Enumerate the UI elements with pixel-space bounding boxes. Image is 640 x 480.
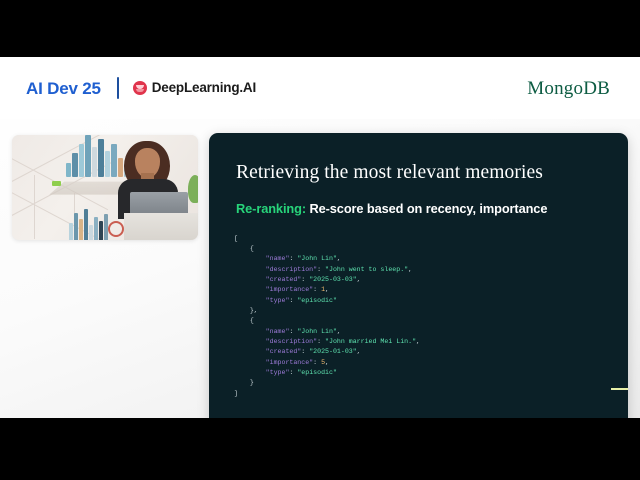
code-line: "created": "2025-01-03", <box>234 348 361 355</box>
code-token: "description" <box>266 266 317 273</box>
code-token: : <box>317 338 325 345</box>
code-token: "type" <box>266 369 290 376</box>
mongodb-logo: MongoDB <box>507 74 610 102</box>
code-token: : <box>313 359 321 366</box>
code-token: "importance" <box>266 286 313 293</box>
podium <box>124 213 198 240</box>
code-line: { <box>234 245 254 252</box>
code-token: "episodic" <box>297 297 337 304</box>
presentation-slide: AI Dev 25 DeepLearning.AI MongoDB <box>0 57 640 418</box>
letterbox-top <box>0 0 640 57</box>
code-token: : <box>317 266 325 273</box>
mongodb-logo-text: MongoDB <box>527 79 610 98</box>
speaker-video-thumbnail[interactable] <box>12 135 198 240</box>
score-annotation-row: 0.96 + 0.9 <box>611 383 628 395</box>
code-line: [ <box>234 235 238 242</box>
code-token: : <box>313 286 321 293</box>
code-token: "John went to sleep." <box>325 266 408 273</box>
code-token: , <box>357 276 361 283</box>
code-token: "2025-03-03" <box>309 276 356 283</box>
code-token: { <box>250 317 254 324</box>
code-token: "2025-01-03" <box>309 348 356 355</box>
json-code-block: [ { "name": "John Lin", "description": "… <box>234 234 420 400</box>
letterbox-bottom <box>0 418 640 480</box>
code-token: [ <box>234 235 238 242</box>
code-token: "John Lin" <box>297 328 337 335</box>
iso-grid-line <box>34 175 35 239</box>
aidev-event-logo: AI Dev 25 <box>26 80 101 97</box>
code-line: "type": "episodic" <box>234 369 337 376</box>
brand-row: AI Dev 25 DeepLearning.AI <box>26 75 256 101</box>
code-token: "name" <box>266 255 290 262</box>
subtitle-highlight: Re-ranking: <box>236 201 306 216</box>
code-line: ] <box>234 390 238 397</box>
code-line: { <box>234 317 254 324</box>
code-line: "type": "episodic" <box>234 297 337 304</box>
code-token: , <box>337 255 341 262</box>
code-token: , <box>416 338 420 345</box>
code-token: : <box>301 276 309 283</box>
code-token: , <box>325 359 329 366</box>
arrow-icon <box>611 388 628 390</box>
deeplearning-logo-text: DeepLearning.AI <box>152 81 256 95</box>
iso-small-city-cluster <box>67 207 115 240</box>
code-token: "type" <box>266 297 290 304</box>
code-line: }, <box>234 307 258 314</box>
laptop <box>130 192 188 214</box>
code-token: "name" <box>266 328 290 335</box>
code-token: , <box>325 286 329 293</box>
code-line: "description": "John went to sleep.", <box>234 266 412 273</box>
brand-divider <box>117 77 119 99</box>
slide-title: Retrieving the most relevant memories <box>236 162 543 184</box>
iso-plant <box>188 175 198 203</box>
code-line: "importance": 1, <box>234 286 329 293</box>
slide-header-band: AI Dev 25 DeepLearning.AI MongoDB <box>0 57 640 119</box>
slide-subtitle: Re-ranking: Re-score based on recency, i… <box>236 201 547 216</box>
code-token: } <box>250 379 254 386</box>
code-token: "John married Mei Lin." <box>325 338 416 345</box>
deeplearning-circle-icon <box>133 81 147 95</box>
content-panel: Retrieving the most relevant memories Re… <box>209 133 628 418</box>
shirt-logo <box>52 181 61 186</box>
code-token: "John Lin" <box>297 255 337 262</box>
code-line: "created": "2025-03-03", <box>234 276 361 283</box>
code-token: "created" <box>266 276 302 283</box>
mongodb-leaf-icon <box>599 146 608 161</box>
code-token: { <box>250 245 254 252</box>
code-line: } <box>234 379 254 386</box>
code-line: "name": "John Lin", <box>234 328 341 335</box>
iso-red-marker <box>108 221 124 237</box>
screenshot-stage: AI Dev 25 DeepLearning.AI MongoDB <box>0 0 640 480</box>
thumbnail-scene <box>12 135 198 240</box>
subtitle-rest: Re-score based on recency, importance <box>306 201 547 216</box>
mongodb-leaf-icon <box>507 78 520 98</box>
code-token: ] <box>234 390 238 397</box>
code-token: , <box>408 266 412 273</box>
code-token: "created" <box>266 348 302 355</box>
code-token: "description" <box>266 338 317 345</box>
code-token: "episodic" <box>297 369 337 376</box>
code-token: : <box>301 348 309 355</box>
code-line: "description": "John married Mei Lin.", <box>234 338 420 345</box>
code-token: , <box>357 348 361 355</box>
code-token: "importance" <box>266 359 313 366</box>
code-token: }, <box>250 307 258 314</box>
code-line: "name": "John Lin", <box>234 255 341 262</box>
code-token: , <box>337 328 341 335</box>
code-line: "importance": 5, <box>234 359 329 366</box>
